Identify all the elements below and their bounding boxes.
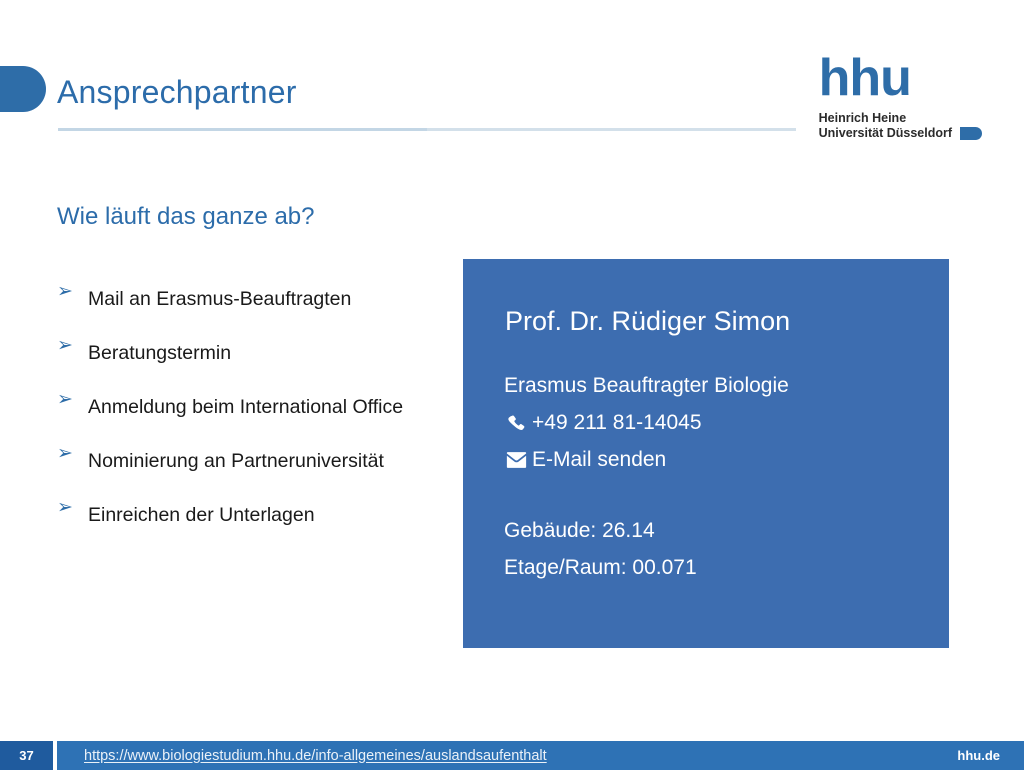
logo-subtitle-lines: Heinrich Heine Universität Düsseldorf (819, 111, 952, 141)
arrow-bullet-icon: ➢ (57, 495, 88, 521)
phone-icon (504, 413, 528, 434)
logo-subtitle-line1: Heinrich Heine (819, 111, 952, 126)
contact-email-label: E-Mail senden (532, 448, 666, 472)
title-divider (58, 128, 796, 131)
logo-pill-shape (960, 127, 982, 140)
page-number-badge: 37 (0, 741, 53, 770)
section-subheading: Wie läuft das ganze ab? (57, 203, 315, 231)
logo-subtitle: Heinrich Heine Universität Düsseldorf (819, 111, 982, 141)
contact-building: Gebäude: 26.14 (504, 519, 655, 543)
list-item: ➢ Beratungstermin (57, 333, 447, 373)
slide-footer: 37 https://www.biologiestudium.hhu.de/in… (0, 741, 1024, 770)
title-accent-shape (0, 66, 46, 112)
arrow-bullet-icon: ➢ (57, 441, 88, 467)
footer-bar: https://www.biologiestudium.hhu.de/info-… (57, 741, 1024, 770)
logo-wordmark: hhu (819, 52, 982, 104)
logo-subtitle-line2: Universität Düsseldorf (819, 126, 952, 141)
list-item-label: Mail an Erasmus-Beauftragten (88, 279, 351, 319)
contact-email-row[interactable]: E-Mail senden (504, 448, 666, 472)
list-item: ➢ Nominierung an Partneruniversität (57, 441, 447, 481)
footer-url-link[interactable]: https://www.biologiestudium.hhu.de/info-… (84, 741, 547, 770)
hhu-logo: hhu Heinrich Heine Universität Düsseldor… (819, 52, 982, 141)
list-item-label: Beratungstermin (88, 333, 231, 373)
slide: Ansprechpartner hhu Heinrich Heine Unive… (0, 0, 1024, 770)
contact-room: Etage/Raum: 00.071 (504, 556, 697, 580)
arrow-bullet-icon: ➢ (57, 333, 88, 359)
contact-phone-number: +49 211 81-14045 (532, 411, 702, 435)
page-title: Ansprechpartner (57, 74, 297, 111)
list-item-label: Nominierung an Partneruniversität (88, 441, 384, 481)
list-item: ➢ Anmeldung beim International Office (57, 387, 447, 427)
contact-name: Prof. Dr. Rüdiger Simon (505, 306, 790, 337)
list-item-label: Anmeldung beim International Office (88, 387, 403, 427)
list-item: ➢ Mail an Erasmus-Beauftragten (57, 279, 447, 319)
contact-card: Prof. Dr. Rüdiger Simon Erasmus Beauftra… (463, 259, 949, 648)
process-bullet-list: ➢ Mail an Erasmus-Beauftragten ➢ Beratun… (57, 279, 447, 549)
arrow-bullet-icon: ➢ (57, 387, 88, 413)
footer-brand-label: hhu.de (957, 741, 1000, 770)
list-item: ➢ Einreichen der Unterlagen (57, 495, 447, 535)
list-item-label: Einreichen der Unterlagen (88, 495, 315, 535)
contact-phone-row: +49 211 81-14045 (504, 411, 702, 435)
contact-role: Erasmus Beauftragter Biologie (504, 374, 789, 398)
arrow-bullet-icon: ➢ (57, 279, 88, 305)
envelope-icon (504, 450, 528, 471)
